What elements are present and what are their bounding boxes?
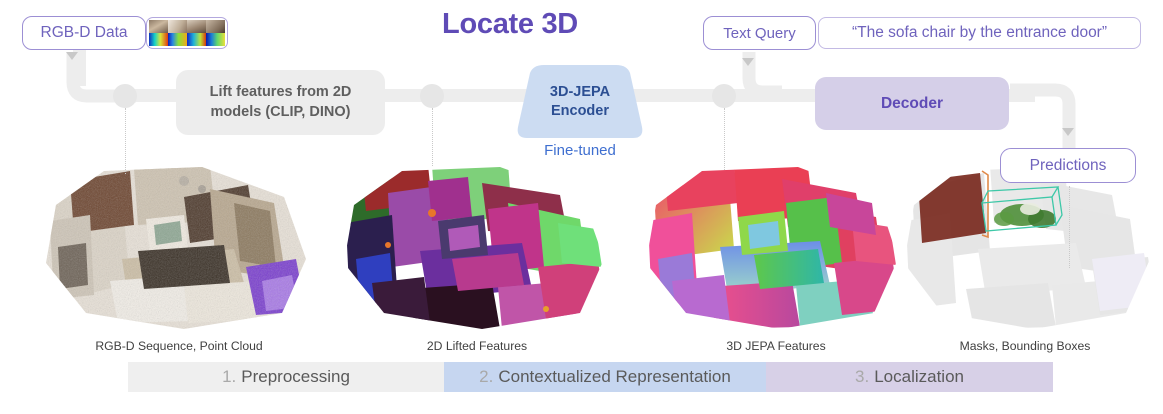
predictions-label: Predictions xyxy=(1030,157,1107,175)
pipeline-node-1 xyxy=(113,84,137,108)
pointcloud-3d-jepa-features xyxy=(636,163,916,335)
caption-rgbd-sequence: RGB-D Sequence, Point Cloud xyxy=(64,339,294,353)
stage-3-number: 3. xyxy=(855,367,869,387)
arrow-down-input xyxy=(66,52,78,60)
encoder-sublabel-fine-tuned: Fine-tuned xyxy=(512,142,648,159)
block-lift-features[interactable]: Lift features from 2D models (CLIP, DINO… xyxy=(176,70,385,135)
stage-segment-preprocessing[interactable]: 1. Preprocessing xyxy=(128,362,444,392)
arrow-down-textquery xyxy=(742,58,754,66)
text-query-value[interactable]: “The sofa chair by the entrance door” xyxy=(818,17,1141,49)
dropline-3 xyxy=(724,108,725,170)
stage-segment-contextualized-representation[interactable]: 2. Contextualized Representation xyxy=(444,362,766,392)
dropline-1 xyxy=(125,108,126,174)
lift-features-line-1: Lift features from 2D xyxy=(210,83,352,102)
stage-segment-localization[interactable]: 3. Localization xyxy=(766,362,1053,392)
rgbd-frame-1 xyxy=(149,20,168,46)
rgbd-frame-3 xyxy=(187,20,206,46)
pointcloud-predictions-masks xyxy=(896,163,1163,335)
dropline-4 xyxy=(1069,186,1070,268)
caption-masks-bounding-boxes: Masks, Bounding Boxes xyxy=(910,339,1140,353)
caption-3d-jepa-features: 3D JEPA Features xyxy=(661,339,891,353)
stage-2-number: 2. xyxy=(479,367,493,387)
rgbd-frame-4 xyxy=(206,20,225,46)
page-title: Locate 3D xyxy=(395,8,625,41)
lift-features-line-2: models (CLIP, DINO) xyxy=(210,103,352,122)
caption-2d-lifted-features: 2D Lifted Features xyxy=(362,339,592,353)
stage-1-label: Preprocessing xyxy=(241,367,350,387)
rgbd-data-pill[interactable]: RGB-D Data xyxy=(22,16,146,50)
diagram-canvas: Locate 3D RGB-D Data xyxy=(0,0,1163,414)
stage-3-label: Localization xyxy=(874,367,964,387)
pointcloud-2d-lifted-features xyxy=(332,163,622,335)
pipe-elbow-predictions xyxy=(1010,83,1090,155)
encoder-label-line-1: 3D-JEPA xyxy=(550,83,610,102)
arrow-down-predictions xyxy=(1062,128,1074,136)
block-decoder[interactable]: Decoder xyxy=(815,77,1009,130)
dropline-2 xyxy=(432,108,433,166)
rgbd-thumbnail-strip[interactable] xyxy=(146,17,228,49)
predictions-pill[interactable]: Predictions xyxy=(1000,148,1136,183)
rgbd-frame-2 xyxy=(168,20,187,46)
block-3d-jepa-encoder[interactable]: 3D-JEPA Encoder xyxy=(512,65,648,138)
pipe-h-2 xyxy=(372,89,532,102)
decoder-label: Decoder xyxy=(881,95,943,113)
pipeline-node-2 xyxy=(420,84,444,108)
encoder-label-line-2: Encoder xyxy=(551,102,609,121)
rgbd-data-label: RGB-D Data xyxy=(41,24,128,42)
pipeline-node-3 xyxy=(712,84,736,108)
pointcloud-rgb xyxy=(34,163,324,335)
text-query-pill[interactable]: Text Query xyxy=(703,16,816,50)
stage-2-label: Contextualized Representation xyxy=(498,367,730,387)
stage-1-number: 1. xyxy=(222,367,236,387)
stage-bar: 1. Preprocessing 2. Contextualized Repre… xyxy=(128,362,1053,392)
text-query-label: Text Query xyxy=(723,25,796,42)
